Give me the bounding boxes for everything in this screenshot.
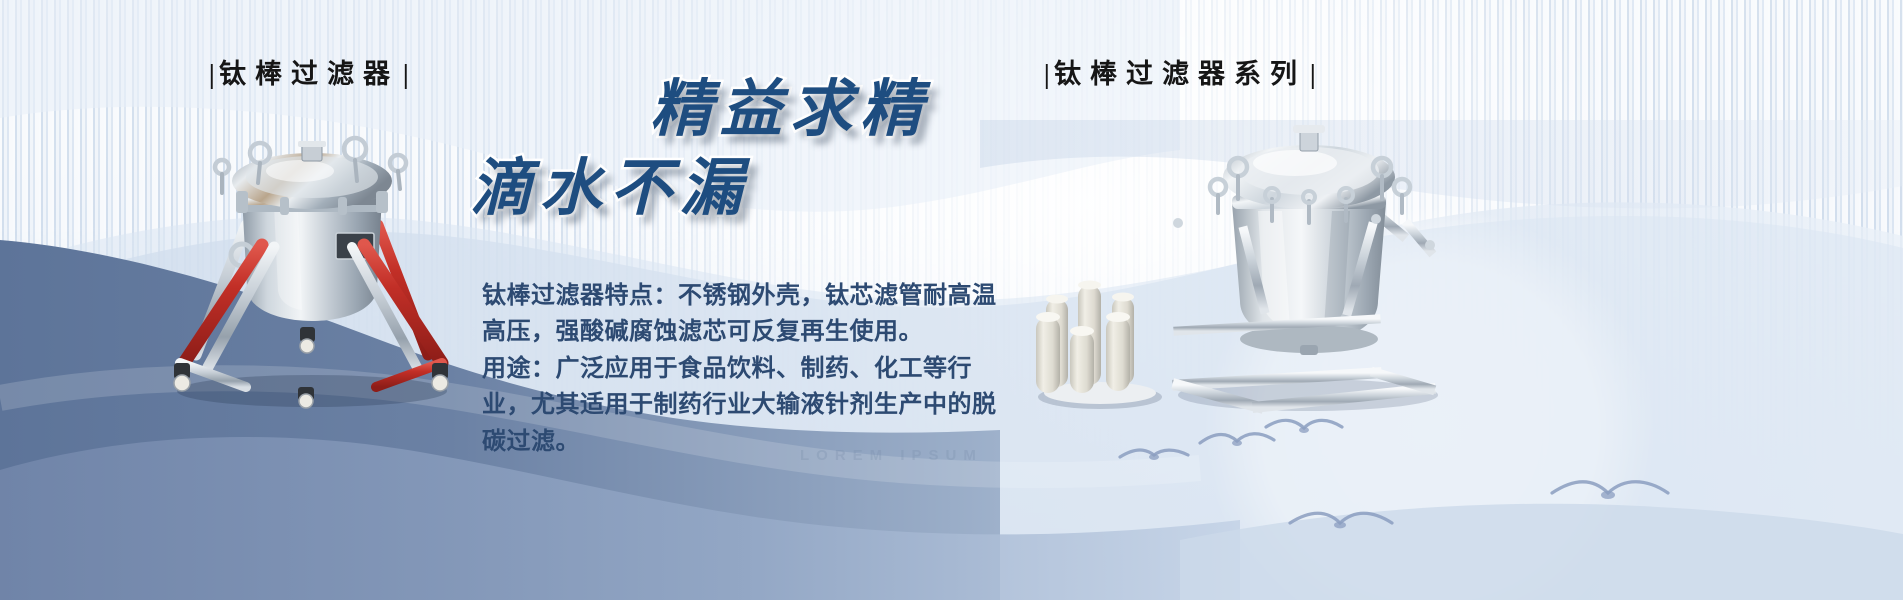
product-image-right-filter-vessel [1140, 95, 1470, 425]
headline-block: 精益求精 滴水不漏 [470, 78, 1030, 222]
title-text-right: 钛棒过滤器系列 [1054, 59, 1306, 89]
section-title-right: |钛棒过滤器系列| [1040, 52, 1320, 91]
body-paragraph-uses: 用途：广泛应用于食品饮料、制药、化工等行业，尤其适用于制药行业大输液针剂生产中的… [482, 351, 1002, 460]
body-paragraph-features: 钛棒过滤器特点：不锈钢外壳，钛芯滤管耐高温高压，强酸碱腐蚀滤芯可反复再生使用。 [482, 278, 1002, 351]
title-bar-right-end: | [1306, 59, 1320, 90]
title-text-left: 钛棒过滤器 [219, 59, 399, 89]
section-title-left: |钛棒过滤器| [205, 52, 413, 91]
product-banner: |钛棒过滤器| |钛棒过滤器系列| 精益求精 滴水不漏 钛棒过滤器特点：不锈钢外… [0, 0, 1903, 600]
watermark-text: LOREM IPSUM [800, 447, 983, 464]
headline-line-1: 精益求精 [470, 78, 1030, 143]
body-copy-block: 钛棒过滤器特点：不锈钢外壳，钛芯滤管耐高温高压，强酸碱腐蚀滤芯可反复再生使用。 … [482, 278, 1002, 460]
birds-decoration [1080, 415, 1870, 595]
headline-line-2: 滴水不漏 [470, 157, 1030, 222]
title-bar-right-start: | [1040, 59, 1054, 90]
product-image-left-filter-vessel [150, 105, 470, 405]
title-bar-left-end: | [399, 59, 413, 90]
title-bar-left-start: | [205, 59, 219, 90]
